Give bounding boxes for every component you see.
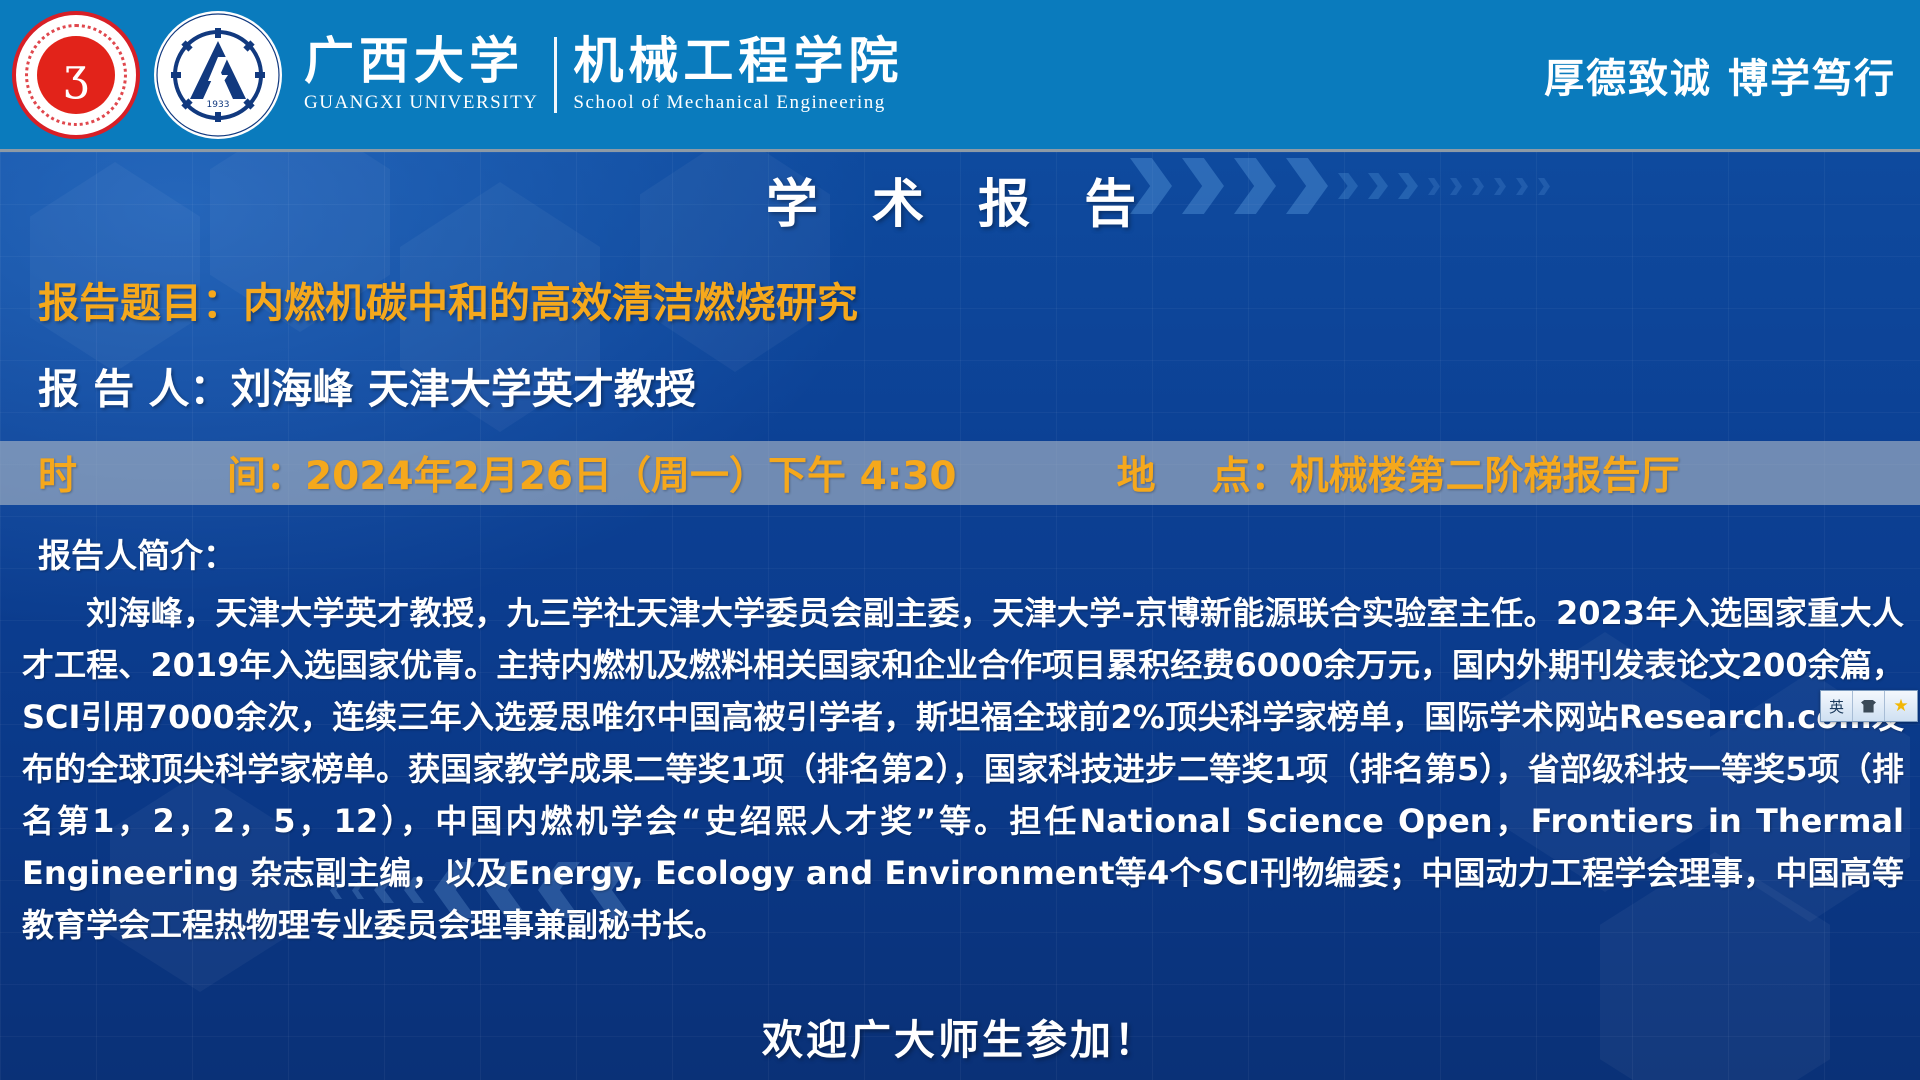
speaker-bio-text: 刘海峰，天津大学英才教授，九三学社天津大学委员会副主委，天津大学-京博新能源联合… [0,577,1920,951]
header-logos: ʒ [0,11,903,139]
welcome-message: 欢迎广大师生参加！ [0,1006,1920,1066]
poster-content: 学 术 报 告 报告题目：内燃机碳中和的高效清洁燃烧研究 报 告 人：刘海峰 天… [0,152,1920,1080]
school-of-mechanical-engineering-emblem-icon: 1933 [154,11,282,139]
page-title: 学 术 报 告 [0,162,1920,237]
seal-core: ʒ [37,36,115,114]
report-speaker-value: 刘海峰 天津大学英才教授 [231,365,696,413]
university-motto: 厚德致诚 博学笃行 [1544,46,1920,104]
ime-star-button[interactable]: ★ [1885,691,1917,721]
report-topic-line: 报告题目：内燃机碳中和的高效清洁燃烧研究 [0,269,1920,329]
school-name-en: School of Mechanical Engineering [573,92,903,114]
place-value: 机械楼第二阶梯报告厅 [1290,445,1680,501]
speaker-bio-label: 报告人简介： [0,529,1920,577]
time-value: 2024年2月26日（周一）下午 4:30 [305,445,957,501]
time-and-place-band: 时 间： 2024年2月26日（周一）下午 4:30 地 点： 机械楼第二阶梯报… [0,441,1920,505]
ime-skin-button[interactable] [1853,691,1885,721]
report-speaker-line: 报 告 人：刘海峰 天津大学英才教授 [0,355,1920,415]
poster-root: ʒ [0,0,1920,1080]
university-name-en: GUANGXI UNIVERSITY [304,92,538,114]
shirt-icon [1861,700,1876,713]
guangxi-university-seal-icon: ʒ [12,11,140,139]
school-name-cn: 机械工程学院 [573,35,903,88]
ime-mode-button[interactable]: 英 [1821,691,1853,721]
wordmark-divider [554,37,557,113]
place-label-suffix: 点： [1212,445,1290,501]
university-name-cn: 广西大学 [304,35,538,88]
header-banner: ʒ [0,0,1920,152]
report-speaker-label: 报 告 人： [38,365,231,413]
svg-text:1933: 1933 [207,100,230,110]
time-label: 时 [38,445,77,501]
flame-glyph: ʒ [64,53,89,97]
star-icon: ★ [1893,698,1908,715]
time-label-suffix: 间： [227,445,305,501]
report-topic-value: 内燃机碳中和的高效清洁燃烧研究 [243,279,858,327]
report-topic-label: 报告题目： [38,279,243,327]
ime-language-bar[interactable]: 英 ★ [1820,690,1918,722]
place-label: 地 [1117,445,1156,501]
header-wordmark: 广西大学 GUANGXI UNIVERSITY 机械工程学院 School of… [304,35,903,115]
